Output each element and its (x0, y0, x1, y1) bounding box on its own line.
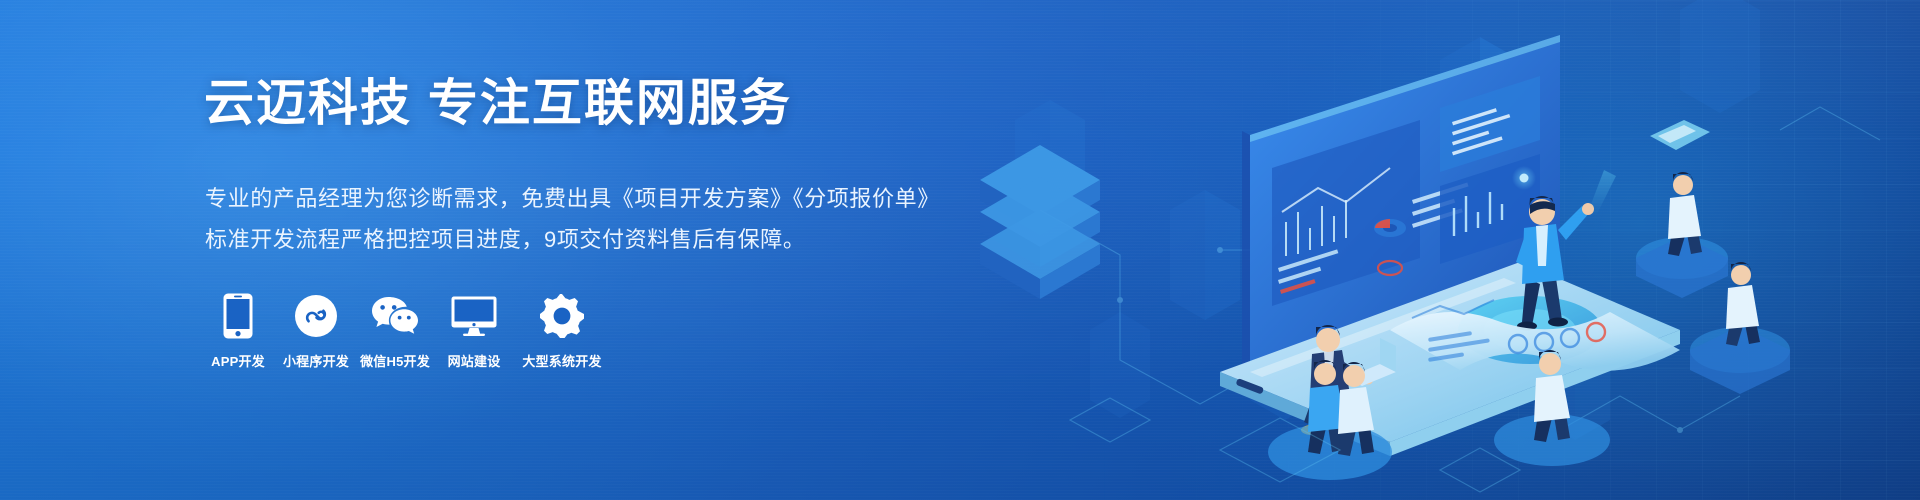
subtitle-line-2: 标准开发流程严格把控项目进度，9项交付资料售后有保障。 (205, 219, 925, 260)
subtitle-block: 专业的产品经理为您诊断需求，免费出具《项目开发方案》《分项报价单》 标准开发流程… (205, 178, 925, 260)
service-item-wechat-h5[interactable]: 微信H5开发 (356, 292, 434, 370)
service-label: APP开发 (211, 351, 265, 370)
service-label: 大型系统开发 (522, 351, 601, 370)
hero-banner: 云迈科技 专注互联网服务 专业的产品经理为您诊断需求，免费出具《项目开发方案》《… (0, 0, 1920, 500)
page-title: 云迈科技 专注互联网服务 (204, 72, 792, 134)
wechat-icon (370, 292, 420, 340)
subtitle-line-1: 专业的产品经理为您诊断需求，免费出具《项目开发方案》《分项报价单》 (205, 178, 925, 219)
smartphone-icon (223, 292, 253, 340)
service-item-website[interactable]: 网站建设 (438, 292, 510, 370)
service-label: 小程序开发 (283, 351, 349, 370)
service-item-mini-program[interactable]: 小程序开发 (278, 292, 354, 370)
service-label: 微信H5开发 (360, 351, 430, 370)
service-item-app[interactable]: APP开发 (200, 292, 276, 370)
monitor-icon (451, 292, 497, 340)
mini-program-icon (295, 292, 337, 340)
banner-content: 云迈科技 专注互联网服务 专业的产品经理为您诊断需求，免费出具《项目开发方案》《… (200, 0, 960, 500)
service-item-large-system[interactable]: 大型系统开发 (516, 292, 608, 370)
gear-icon (540, 292, 584, 340)
service-list: APP开发 小程序开发 (200, 292, 608, 370)
service-label: 网站建设 (448, 351, 501, 370)
